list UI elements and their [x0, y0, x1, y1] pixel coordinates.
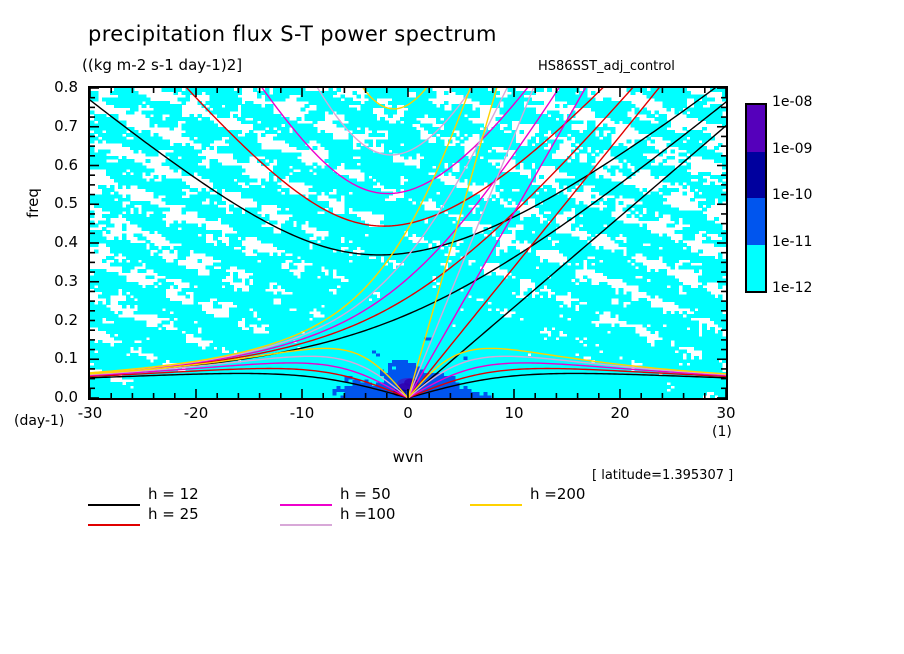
- y-tick-label: 0.1: [34, 349, 78, 367]
- legend-swatch: [88, 504, 140, 506]
- colorbar: [745, 103, 767, 293]
- latitude-note: [ latitude=1.395307 ]: [592, 468, 733, 483]
- colorbar-band-3: [747, 245, 765, 292]
- y-tick-label: 0.8: [34, 78, 78, 96]
- y-tick-label: 0.7: [34, 117, 78, 135]
- x-tick-label: 30: [701, 404, 751, 422]
- run-identifier: HS86SST_adj_control: [538, 59, 675, 74]
- colorbar-label-4: 1e-12: [772, 280, 812, 296]
- legend-swatch: [470, 504, 522, 506]
- colorbar-label-0: 1e-08: [772, 94, 812, 110]
- y-tick-label: 0.5: [34, 194, 78, 212]
- legend-label: h = 25: [148, 505, 199, 523]
- legend-swatch: [280, 524, 332, 526]
- x-tick-label: 20: [595, 404, 645, 422]
- x-axis-unit-right: (1): [712, 424, 732, 440]
- x-tick-label: 10: [489, 404, 539, 422]
- colorbar-band-0: [747, 105, 765, 152]
- legend-label: h =100: [340, 505, 395, 523]
- spectrum-field: [90, 88, 726, 398]
- colorbar-label-3: 1e-11: [772, 234, 812, 250]
- chart-units: ((kg m-2 s-1 day-1)2]: [82, 56, 242, 74]
- x-tick-label: -10: [277, 404, 327, 422]
- x-axis-label: wvn: [0, 448, 816, 466]
- legend-label: h = 50: [340, 485, 391, 503]
- legend-swatch: [88, 524, 140, 526]
- chart-title: precipitation flux S-T power spectrum: [88, 22, 497, 46]
- y-tick-label: 0.3: [34, 272, 78, 290]
- colorbar-band-2: [747, 198, 765, 245]
- colorbar-band-1: [747, 152, 765, 199]
- legend-swatch: [280, 504, 332, 506]
- x-tick-label: -30: [65, 404, 115, 422]
- plot-area: [88, 86, 728, 400]
- y-tick-label: 0.2: [34, 311, 78, 329]
- x-tick-label: 0: [383, 404, 433, 422]
- x-tick-label: -20: [171, 404, 221, 422]
- y-tick-label: 0.4: [34, 233, 78, 251]
- y-tick-label: 0.6: [34, 156, 78, 174]
- x-axis-unit-left: (day-1): [14, 413, 64, 429]
- colorbar-label-2: 1e-10: [772, 187, 812, 203]
- legend-label: h =200: [530, 485, 585, 503]
- legend-label: h = 12: [148, 485, 199, 503]
- colorbar-label-1: 1e-09: [772, 141, 812, 157]
